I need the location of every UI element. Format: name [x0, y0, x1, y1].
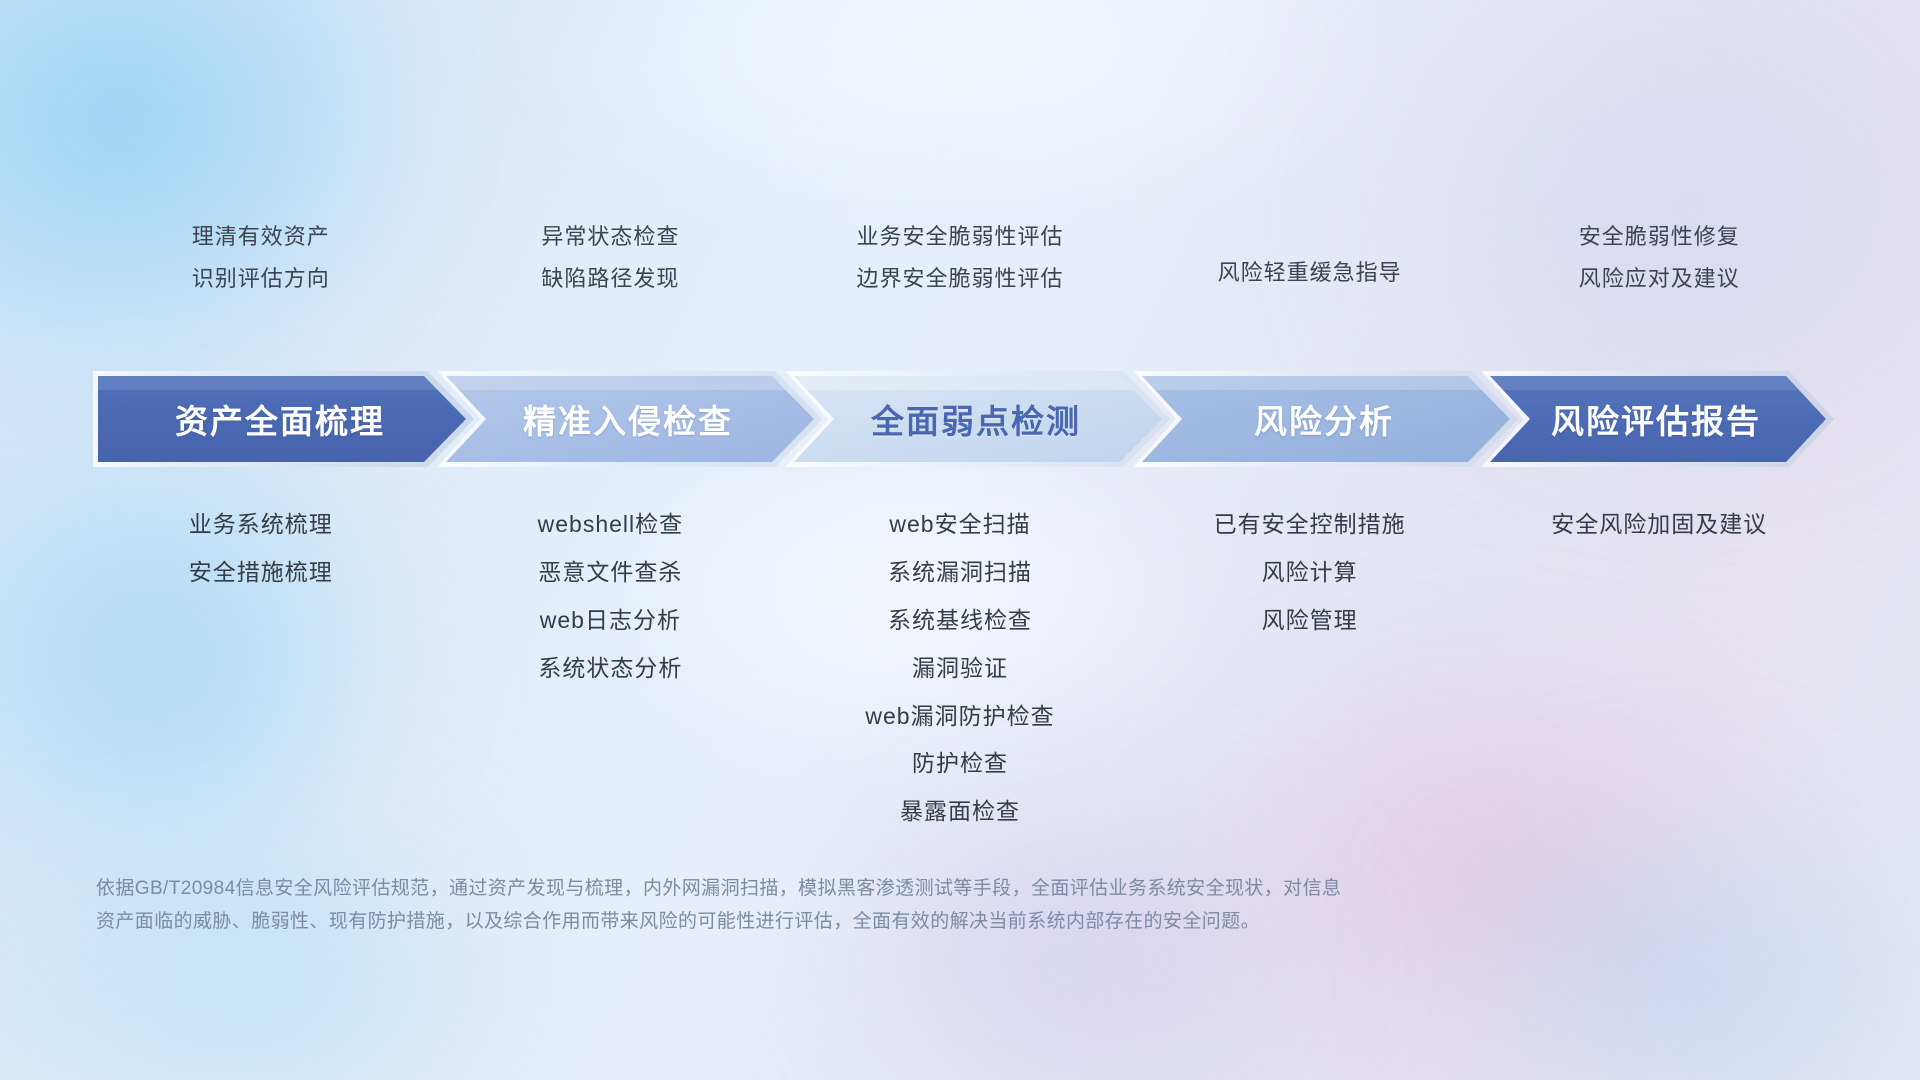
top-annotations-step-3: 业务安全脆弱性评估 边界安全脆弱性评估: [785, 222, 1135, 293]
process-step-label: 全面弱点检测: [871, 395, 1081, 443]
process-arrow-band: 资产全面梳理: [86, 370, 1834, 468]
top-annotation-item: 缺陷路径发现: [541, 264, 679, 294]
process-step-label: 风险分析: [1254, 395, 1394, 443]
top-annotations-row: 理清有效资产 识别评估方向 异常状态检查 缺陷路径发现 业务安全脆弱性评估 边界…: [86, 222, 1834, 293]
bottom-details-step-5: 安全风险加固及建议: [1484, 510, 1834, 827]
detail-item: 安全风险加固及建议: [1551, 510, 1767, 540]
top-annotations-step-4: 风险轻重缓急指导: [1135, 222, 1485, 293]
detail-item: 系统状态分析: [538, 654, 682, 684]
bottom-detail-row: 业务系统梳理 安全措施梳理 webshell检查 恶意文件查杀 web日志分析 …: [86, 510, 1834, 827]
detail-item: web安全扫描: [889, 510, 1030, 540]
bottom-details-step-1: 业务系统梳理 安全措施梳理: [86, 510, 436, 827]
detail-item: web漏洞防护检查: [865, 702, 1054, 732]
detail-item: 风险计算: [1262, 558, 1358, 588]
top-annotations-step-5: 安全脆弱性修复 风险应对及建议: [1484, 222, 1834, 293]
top-annotations-step-2: 异常状态检查 缺陷路径发现: [436, 222, 786, 293]
top-annotation-item: 边界安全脆弱性评估: [856, 264, 1063, 294]
top-annotation-item: 安全脆弱性修复: [1579, 222, 1740, 252]
process-step-5[interactable]: 风险评估报告: [1478, 370, 1834, 468]
diagram-content: 理清有效资产 识别评估方向 异常状态检查 缺陷路径发现 业务安全脆弱性评估 边界…: [0, 0, 1920, 1080]
detail-item: web日志分析: [540, 606, 681, 636]
top-annotation-item: 识别评估方向: [192, 264, 330, 294]
detail-item: 安全措施梳理: [189, 558, 333, 588]
top-annotation-item: 异常状态检查: [541, 222, 679, 252]
process-step-4[interactable]: 风险分析: [1130, 370, 1518, 468]
process-step-3[interactable]: 全面弱点检测: [782, 370, 1170, 468]
bottom-details-step-2: webshell检查 恶意文件查杀 web日志分析 系统状态分析: [436, 510, 786, 827]
detail-item: 系统基线检查: [888, 606, 1032, 636]
detail-item: 防护检查: [912, 749, 1008, 779]
process-step-label: 风险评估报告: [1551, 395, 1761, 443]
bottom-details-step-3: web安全扫描 系统漏洞扫描 系统基线检查 漏洞验证 web漏洞防护检查 防护检…: [785, 510, 1135, 827]
process-step-1[interactable]: 资产全面梳理: [86, 370, 474, 468]
detail-item: 系统漏洞扫描: [888, 558, 1032, 588]
slide-canvas: 理清有效资产 识别评估方向 异常状态检查 缺陷路径发现 业务安全脆弱性评估 边界…: [0, 0, 1920, 1080]
process-step-2[interactable]: 精准入侵检查: [434, 370, 822, 468]
footer-description: 依据GB/T20984信息安全风险评估规范，通过资产发现与梳理，内外网漏洞扫描，…: [96, 872, 1636, 939]
detail-item: 暴露面检查: [900, 797, 1020, 827]
detail-item: 漏洞验证: [912, 654, 1008, 684]
detail-item: 恶意文件查杀: [538, 558, 682, 588]
top-annotation-item: 理清有效资产: [192, 222, 330, 252]
top-annotation-item: 风险应对及建议: [1579, 264, 1740, 294]
detail-item: 已有安全控制措施: [1214, 510, 1406, 540]
detail-item: 风险管理: [1262, 606, 1358, 636]
top-annotation-item: 风险轻重缓急指导: [1218, 258, 1402, 288]
top-annotation-item: 业务安全脆弱性评估: [856, 222, 1063, 252]
footer-line-1: 依据GB/T20984信息安全风险评估规范，通过资产发现与梳理，内外网漏洞扫描，…: [96, 872, 1636, 905]
top-annotations-step-1: 理清有效资产 识别评估方向: [86, 222, 436, 293]
footer-line-2: 资产面临的威胁、脆弱性、现有防护措施，以及综合作用而带来风险的可能性进行评估，全…: [96, 905, 1636, 938]
process-step-label: 精准入侵检查: [523, 395, 733, 443]
detail-item: webshell检查: [538, 510, 684, 540]
bottom-details-step-4: 已有安全控制措施 风险计算 风险管理: [1135, 510, 1485, 827]
process-step-label: 资产全面梳理: [175, 395, 385, 443]
detail-item: 业务系统梳理: [189, 510, 333, 540]
